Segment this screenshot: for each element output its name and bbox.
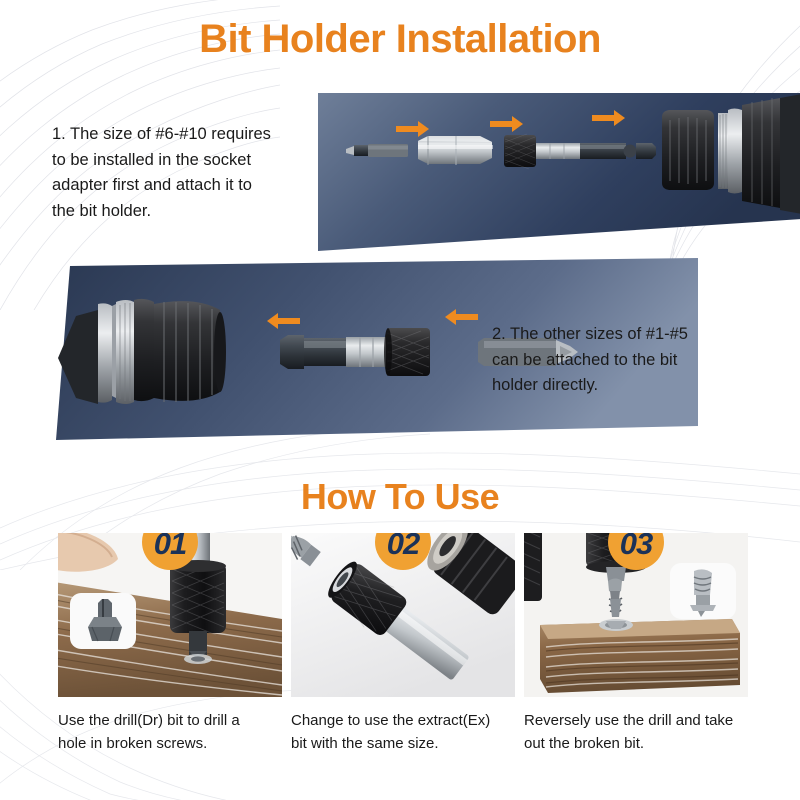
how-to-use-photo-01: 01 — [58, 533, 282, 697]
how-to-use-photo-02: 02 — [291, 533, 515, 697]
how-to-use-caption-01: Use the drill(Dr) bit to drill a hole in… — [58, 710, 282, 755]
installation-step-2-text: 2. The other sizes of #1-#5 can be attac… — [492, 322, 757, 399]
how-to-use-photo-03: 03 — [524, 533, 748, 697]
infographic-page: Bit Holder Installation — [0, 0, 800, 800]
page-title-installation: Bit Holder Installation — [0, 17, 800, 62]
step-badge-number: 01 — [154, 533, 186, 559]
step-badge-number: 02 — [387, 533, 419, 559]
how-to-use-card: 02 Change to use the extract(Ex) bit wit… — [291, 533, 515, 778]
drill-bit-thumbnail-inset — [70, 593, 136, 649]
page-title-how-to-use: How To Use — [0, 476, 800, 518]
how-to-use-card-list: 01 Use the drill(Dr) bit to drill a hole… — [58, 533, 748, 778]
how-to-use-card: 03 Reversely use the drill and take out … — [524, 533, 748, 778]
installation-step-1-illustration-panel — [318, 93, 800, 251]
how-to-use-card: 01 Use the drill(Dr) bit to drill a hole… — [58, 533, 282, 778]
how-to-use-caption-02: Change to use the extract(Ex) bit with t… — [291, 710, 515, 755]
extractor-bit-thumbnail-inset — [670, 563, 736, 619]
step-badge-number: 03 — [620, 533, 652, 559]
installation-step-1-text: 1. The size of #6-#10 requires to be ins… — [52, 122, 317, 224]
how-to-use-caption-03: Reversely use the drill and take out the… — [524, 710, 748, 755]
